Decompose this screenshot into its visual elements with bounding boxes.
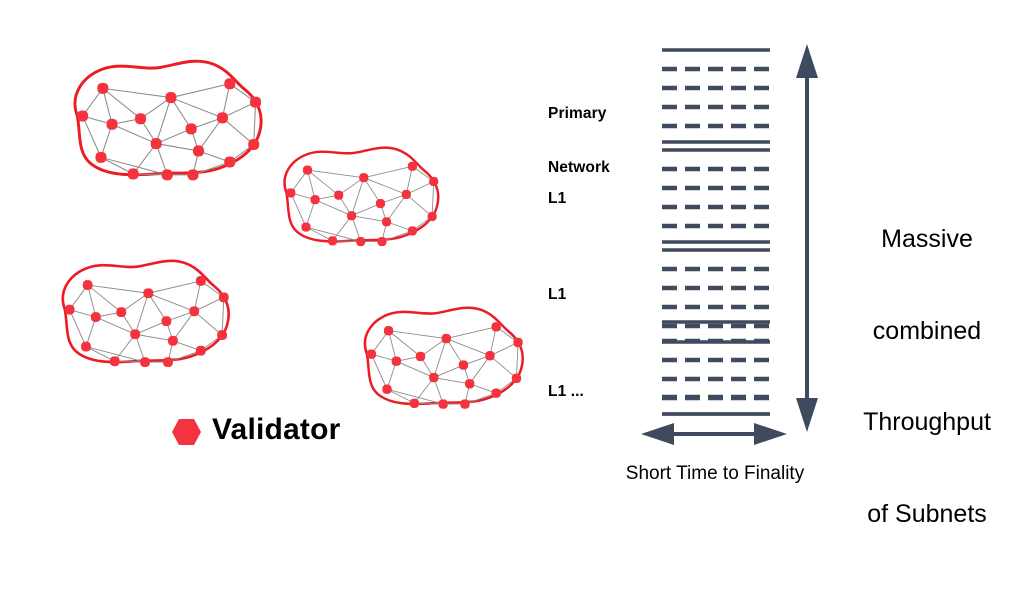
diagram-canvas: Primary Network L1 L1 L1 ... Validator M…	[0, 0, 1020, 571]
tier-block-l1-c	[662, 322, 772, 414]
massive-throughput-arrow	[796, 44, 818, 432]
tier-label-l1-b: L1	[548, 286, 566, 304]
tier-label-primary-network-line2: Network	[548, 159, 610, 177]
finality-arrow	[641, 423, 787, 445]
tier-stack	[662, 50, 772, 414]
tier-block-primary-network	[662, 50, 772, 142]
tier-block-l1-b	[662, 250, 772, 342]
validator-hexagon-icon	[172, 419, 201, 445]
massive-throughput-note-line2: combined	[838, 316, 1016, 347]
massive-throughput-note: Massive combined Throughput of Subnets	[838, 163, 1016, 590]
tier-block-l1-a	[662, 150, 772, 242]
tier-label-l1-c: L1 ...	[548, 383, 584, 401]
massive-throughput-note-line1: Massive	[838, 224, 1016, 255]
subnet-cluster-1	[75, 61, 261, 180]
subnet-cluster-2	[285, 148, 439, 246]
massive-throughput-note-line3: Throughput	[838, 407, 1016, 438]
tier-label-primary-network-line1: Primary	[548, 105, 610, 123]
subnet-cluster-3	[63, 261, 229, 367]
finality-caption: Short Time to Finality	[560, 463, 870, 485]
validator-legend-label: Validator	[212, 412, 341, 447]
tier-label-l1-a: L1	[548, 190, 566, 208]
massive-throughput-note-line4: of Subnets	[838, 499, 1016, 530]
subnet-cluster-4	[365, 308, 523, 409]
